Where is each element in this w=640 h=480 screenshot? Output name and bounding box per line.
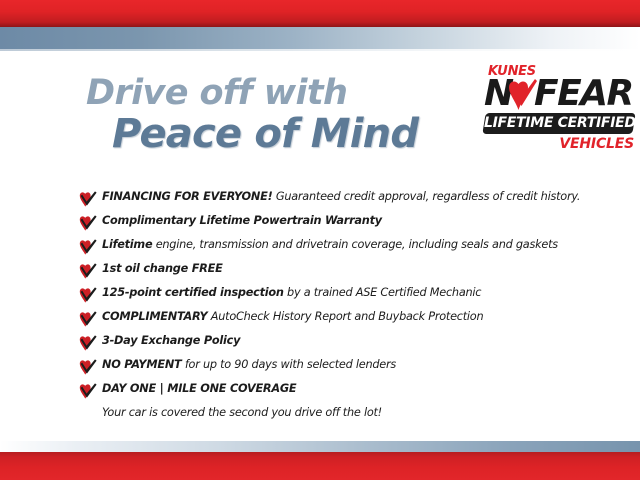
bottom-red-banner [0, 452, 640, 480]
benefit-text: Complimentary Lifetime Powertrain Warran… [102, 214, 382, 228]
top-red-banner [0, 0, 640, 27]
benefit-text-bold: NO PAYMENT [102, 358, 181, 371]
benefit-item: Lifetime engine, transmission and drivet… [78, 238, 588, 255]
benefit-text: 125-point certified inspection by a trai… [102, 286, 481, 300]
red-check-icon [78, 191, 97, 207]
benefit-item: NO PAYMENT for up to 90 days with select… [78, 358, 588, 375]
red-check-icon [78, 383, 97, 399]
headline-line-1: Drive off with [86, 76, 486, 111]
red-check-icon [78, 263, 97, 279]
headline: Drive off with Peace of Mind [86, 76, 486, 155]
benefit-row: DAY ONE | MILE ONE COVERAGE [78, 382, 588, 399]
benefit-text-rest: AutoCheck History Report and Buyback Pro… [207, 310, 483, 323]
benefit-text-bold: Lifetime [102, 238, 152, 251]
benefit-text-rest: by a trained ASE Certified Mechanic [284, 286, 482, 299]
logo-lifetime-certified-text: LIFETIME CERTIFIED [484, 113, 634, 134]
benefit-text-rest: for up to 90 days with selected lenders [181, 358, 396, 371]
benefit-row: COMPLIMENTARY AutoCheck History Report a… [78, 310, 588, 327]
headline-line-2: Peace of Mind [112, 113, 486, 155]
benefits-list: FINANCING FOR EVERYONE! Guaranteed credi… [78, 190, 588, 419]
benefit-row: Complimentary Lifetime Powertrain Warran… [78, 214, 588, 231]
benefit-row: 125-point certified inspection by a trai… [78, 286, 588, 303]
benefit-subtext: Your car is covered the second you drive… [102, 406, 588, 419]
benefit-text: FINANCING FOR EVERYONE! Guaranteed credi… [102, 190, 580, 204]
benefit-item: COMPLIMENTARY AutoCheck History Report a… [78, 310, 588, 327]
logo-nofear-wordmark: N FEAR [484, 78, 636, 112]
benefit-text-bold: 1st oil change FREE [102, 262, 223, 275]
red-check-icon [78, 287, 97, 303]
benefit-text-bold: 125-point certified inspection [102, 286, 284, 299]
promo-graphic: Drive off with Peace of Mind KUNES N FEA… [0, 0, 640, 480]
benefit-text-bold: FINANCING FOR EVERYONE! [102, 190, 272, 203]
benefit-item: 125-point certified inspection by a trai… [78, 286, 588, 303]
benefit-text-bold: 3-Day Exchange Policy [102, 334, 240, 347]
bottom-blue-stripe [0, 441, 640, 452]
benefit-row: 1st oil change FREE [78, 262, 588, 279]
benefit-text-rest: Guaranteed credit approval, regardless o… [272, 190, 580, 203]
benefit-item: FINANCING FOR EVERYONE! Guaranteed credi… [78, 190, 588, 207]
benefit-text-bold: DAY ONE | MILE ONE COVERAGE [102, 382, 296, 395]
kunes-no-fear-logo: KUNES N FEAR LIFETIME CERTIFIED VEHICLES [482, 62, 636, 154]
benefit-row: NO PAYMENT for up to 90 days with select… [78, 358, 588, 375]
benefit-text: COMPLIMENTARY AutoCheck History Report a… [102, 310, 483, 324]
benefit-text: 1st oil change FREE [102, 262, 223, 276]
benefit-row: Lifetime engine, transmission and drivet… [78, 238, 588, 255]
benefit-item: DAY ONE | MILE ONE COVERAGEYour car is c… [78, 382, 588, 419]
red-check-icon [78, 335, 97, 351]
benefit-row: FINANCING FOR EVERYONE! Guaranteed credi… [78, 190, 588, 207]
red-check-icon [78, 215, 97, 231]
logo-word-fear: FEAR [534, 76, 633, 112]
top-blue-stripe [0, 27, 640, 51]
benefit-item: Complimentary Lifetime Powertrain Warran… [78, 214, 588, 231]
benefit-text-rest: engine, transmission and drivetrain cove… [152, 238, 558, 251]
benefit-item: 1st oil change FREE [78, 262, 588, 279]
benefit-text-bold: Complimentary Lifetime Powertrain Warran… [102, 214, 382, 227]
red-check-icon [78, 239, 97, 255]
benefit-text: DAY ONE | MILE ONE COVERAGE [102, 382, 296, 396]
red-check-icon [78, 311, 97, 327]
benefit-item: 3-Day Exchange Policy [78, 334, 588, 351]
logo-lifetime-certified-bar: LIFETIME CERTIFIED [482, 113, 635, 134]
benefit-text-bold: COMPLIMENTARY [102, 310, 207, 323]
benefit-text: 3-Day Exchange Policy [102, 334, 240, 348]
benefit-text: NO PAYMENT for up to 90 days with select… [102, 358, 396, 372]
red-check-icon [78, 359, 97, 375]
benefit-text: Lifetime engine, transmission and drivet… [102, 238, 558, 252]
logo-vehicles-text: VEHICLES [559, 136, 634, 152]
benefit-row: 3-Day Exchange Policy [78, 334, 588, 351]
